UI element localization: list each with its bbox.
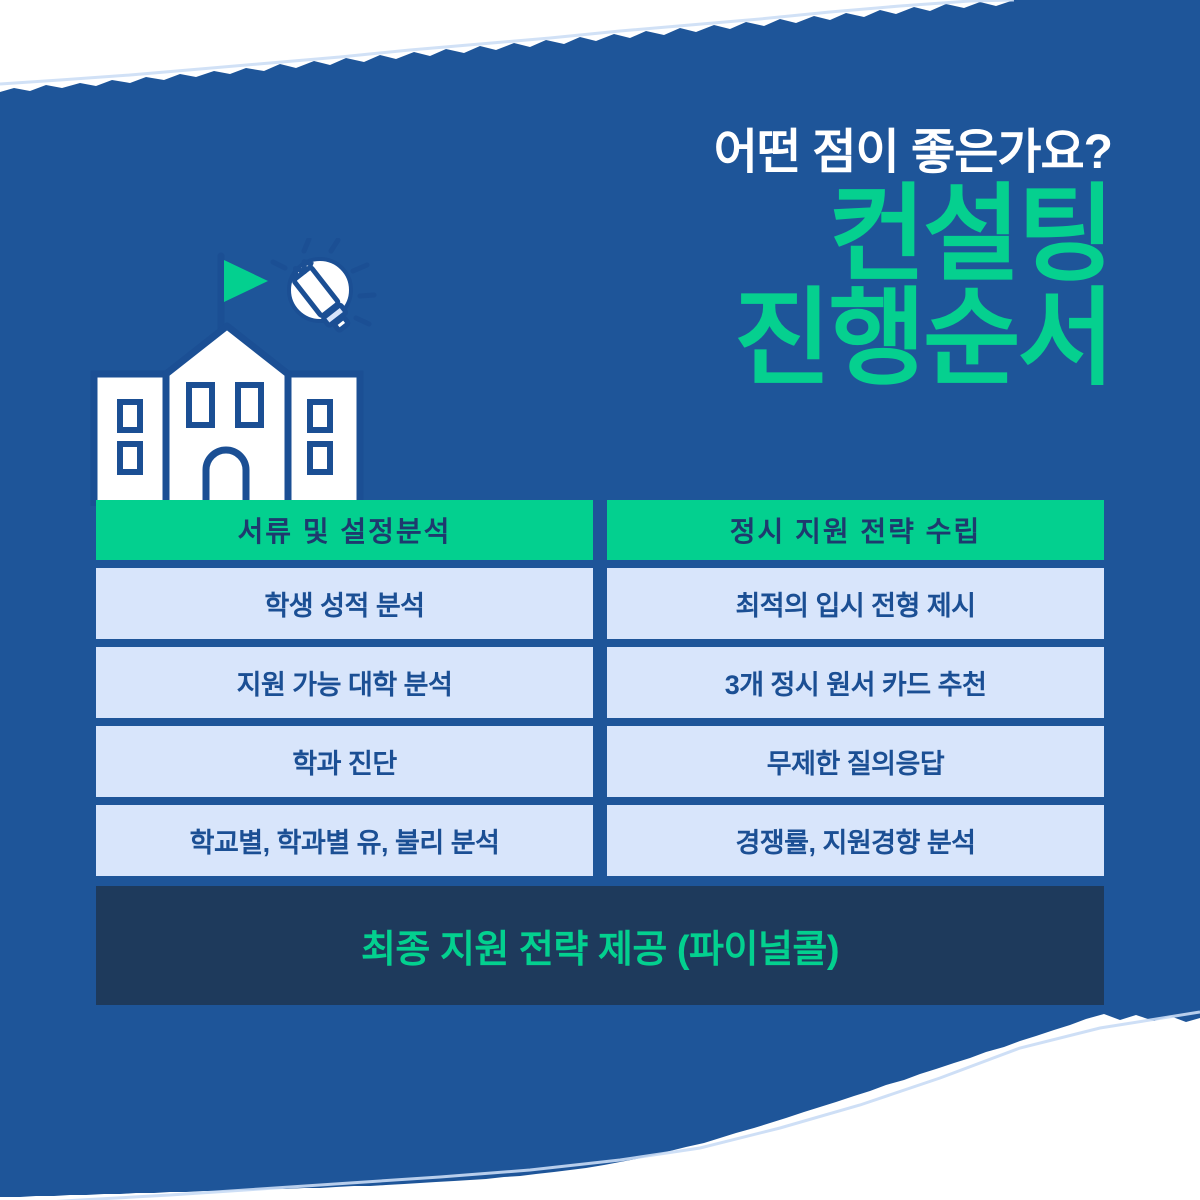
table-row: 지원 가능 대학 분석 — [96, 647, 593, 718]
table-row: 학교별, 학과별 유, 불리 분석 — [96, 805, 593, 876]
process-column-left: 서류 및 설정분석 학생 성적 분석 지원 가능 대학 분석 학과 진단 학교별… — [96, 500, 593, 876]
process-table: 서류 및 설정분석 학생 성적 분석 지원 가능 대학 분석 학과 진단 학교별… — [96, 500, 1104, 1005]
poster-title: 컨설팅 진행순서 — [714, 184, 1112, 392]
column-header-right: 정시 지원 전략 수립 — [607, 500, 1104, 560]
column-header-left: 서류 및 설정분석 — [96, 500, 593, 560]
table-row: 무제한 질의응답 — [607, 726, 1104, 797]
table-row: 경쟁률, 지원경향 분석 — [607, 805, 1104, 876]
process-column-right: 정시 지원 전략 수립 최적의 입시 전형 제시 3개 정시 원서 카드 추천 … — [607, 500, 1104, 876]
process-columns: 서류 및 설정분석 학생 성적 분석 지원 가능 대학 분석 학과 진단 학교별… — [96, 500, 1104, 876]
header-text-block: 어떤 점이 좋은가요? 컨설팅 진행순서 — [714, 128, 1112, 392]
table-row: 최적의 입시 전형 제시 — [607, 568, 1104, 639]
final-strategy-banner: 최종 지원 전략 제공 (파이널콜) — [96, 886, 1104, 1005]
lightbulb-icon — [273, 239, 374, 334]
poster-title-line-2: 진행순서 — [714, 288, 1112, 392]
table-row: 학과 진단 — [96, 726, 593, 797]
poster-subtitle: 어떤 점이 좋은가요? — [714, 128, 1112, 178]
school-illustration — [88, 238, 418, 506]
school-building-icon — [94, 326, 360, 506]
table-row: 학생 성적 분석 — [96, 568, 593, 639]
table-row: 3개 정시 원서 카드 추천 — [607, 647, 1104, 718]
poster-title-line-1: 컨설팅 — [828, 176, 1112, 294]
poster-canvas: 어떤 점이 좋은가요? 컨설팅 진행순서 서류 및 설정분석 학생 성적 분석 … — [0, 0, 1200, 1200]
